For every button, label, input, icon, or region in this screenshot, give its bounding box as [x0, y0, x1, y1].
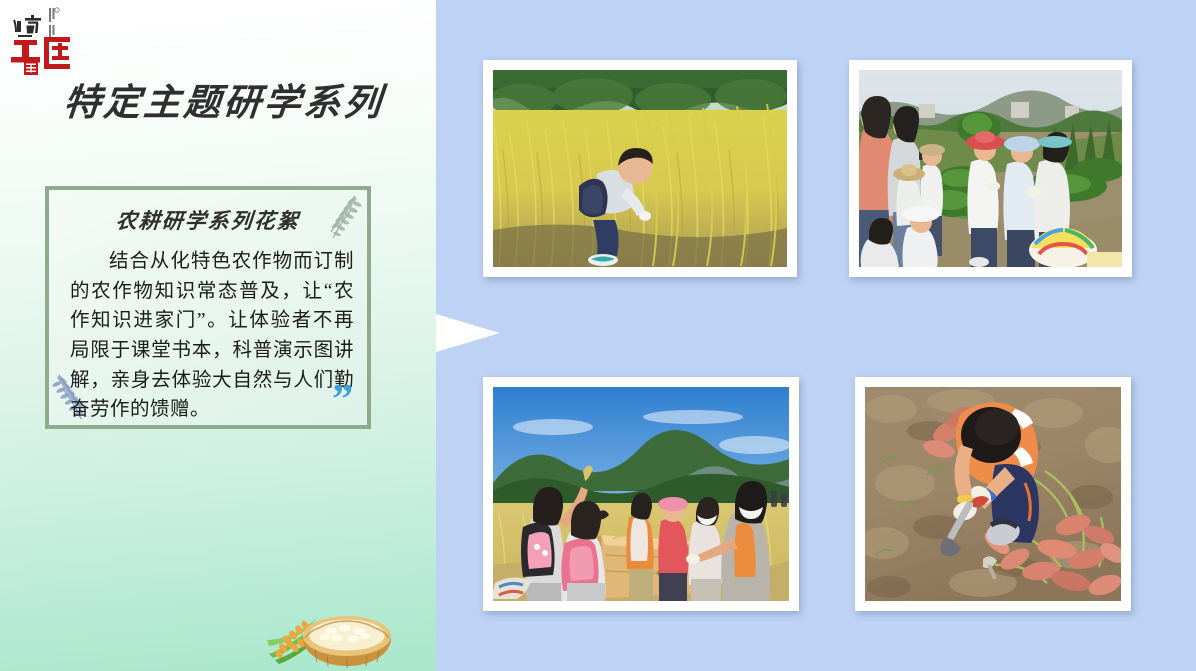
photo-sweetpotato[interactable] [855, 377, 1131, 611]
photo-veg-harvest-image [859, 70, 1122, 267]
quote-card: 农耕研学系列花絮 结合从化特色农作物而订制的农作物知识常态普及，让“农作知识进家… [45, 186, 371, 429]
photo-threshing[interactable] [483, 377, 799, 611]
left-panel: 特定主题研学系列 [0, 0, 436, 671]
quote-card-title: 农耕研学系列花絮 [48, 205, 369, 235]
page-title: 特定主题研学系列 [62, 72, 397, 126]
photo-rice-field[interactable] [483, 60, 797, 277]
photo-sweetpotato-image [865, 387, 1121, 601]
photo-rice-field-image [493, 70, 787, 267]
slide-canvas: 特定主题研学系列 [0, 0, 1196, 671]
photo-threshing-image [493, 387, 789, 601]
rice-basket-icon [265, 596, 405, 668]
quote-card-body: 结合从化特色农作物而订制的农作物知识常态普及，让“农作知识进家门”。让体验者不再… [70, 247, 354, 425]
luodong-craftsman-logo [8, 2, 80, 76]
photo-veg-harvest[interactable] [849, 60, 1132, 277]
quote-mark-icon: ” [332, 379, 353, 421]
